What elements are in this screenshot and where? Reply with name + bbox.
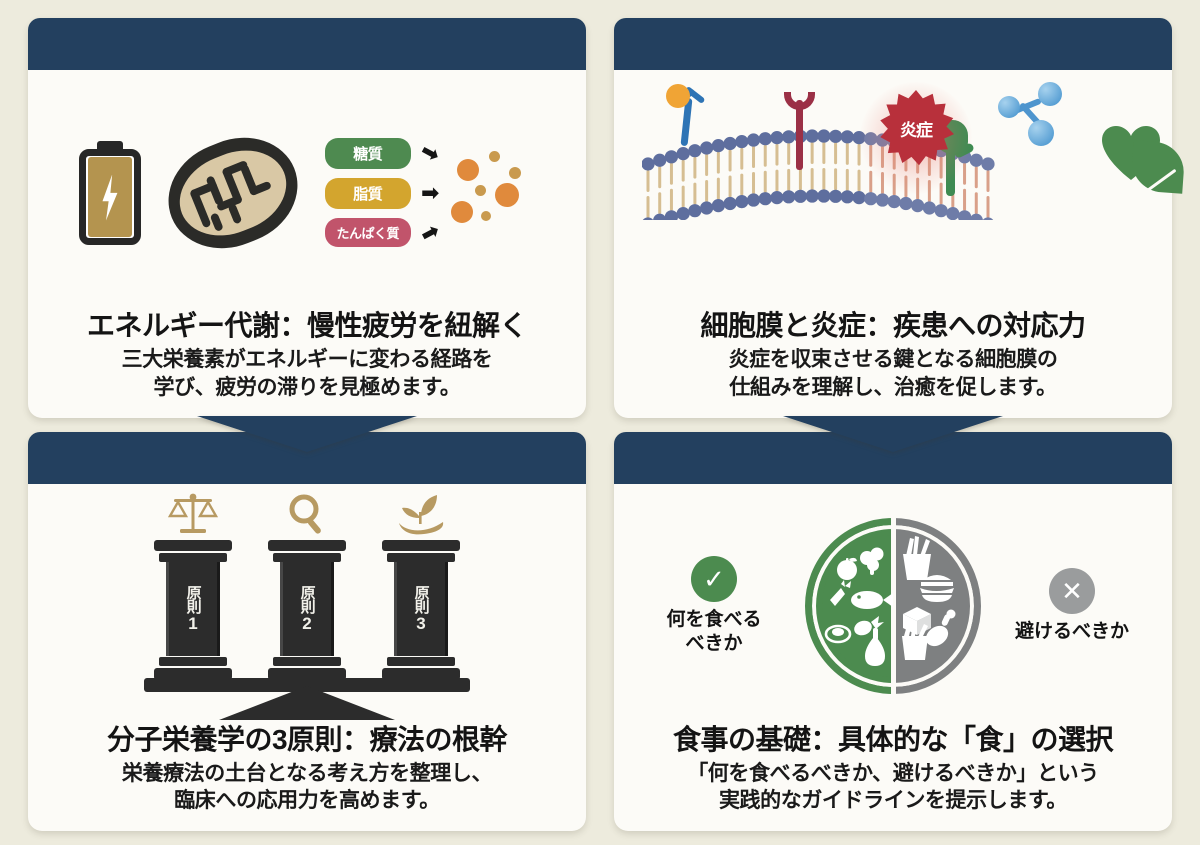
card-title: エネルギー代謝：慢性疲労を紐解く (46, 309, 568, 342)
burger-icon (920, 575, 954, 602)
pillars-balance: 原則 1 (142, 508, 472, 704)
card-subtitle: 炎症を収束させる鍵となる細胞膜の 仕組みを理解し、治癒を促します。 (632, 346, 1154, 401)
subtitle-line: 「何を食べるべきか、避けるべきか」という (632, 760, 1154, 788)
nutrient-pathway-icon: 糖質 脂質 たんぱく質 ➡ ➡ ➡ (325, 138, 536, 247)
oil-bottle-icon (865, 628, 885, 666)
eat-side-label: 何を食べる べきか (666, 608, 761, 656)
label-line: 何を食べる (666, 608, 761, 632)
pillar-number: 1 (188, 615, 197, 632)
energy-particles-icon (449, 145, 535, 241)
meat-icon (852, 616, 884, 638)
subtitle-line: 学び、疲労の滞りを見極めます。 (46, 374, 568, 402)
card-texts: 食事の基礎：具体的な「食」の選択 「何を食べるべきか、避けるべきか」という 実践… (632, 723, 1154, 821)
label-line: べきか (666, 632, 761, 656)
card-header-bar (614, 18, 1172, 70)
card-body: ✓ 何を食べる べきか (614, 484, 1172, 832)
avoid-side-label: 避けるべきか (1015, 620, 1129, 644)
energy-metabolism-art: 糖質 脂質 たんぱく質 ➡ ➡ ➡ (46, 76, 568, 309)
arrow-icon: ➡ (417, 218, 444, 246)
card-diet-basics[interactable]: ✓ 何を食べる べきか (614, 432, 1172, 832)
nutrient-badges: 糖質 脂質 たんぱく質 (325, 138, 412, 247)
pillar-kanji: 原則 (299, 585, 314, 613)
apple-icon (837, 558, 857, 580)
card-body: 糖質 脂質 たんぱく質 ➡ ➡ ➡ (28, 70, 586, 418)
card-texts: エネルギー代謝：慢性疲労を紐解く 三大栄養素がエネルギーに変わる経路を 学び、疲… (46, 309, 568, 407)
subtitle-line: 仕組みを理解し、治癒を促します。 (632, 374, 1154, 402)
arrow-icon: ➡ (417, 138, 444, 166)
card-body: 原則 1 (28, 484, 586, 832)
balance-fulcrum (219, 686, 395, 720)
scales-icon (168, 492, 218, 536)
fish-icon (851, 591, 893, 609)
connector-arrow-down-icon (197, 416, 417, 452)
subtitle-line: 炎症を収束させる鍵となる細胞膜の (632, 346, 1154, 374)
battery-icon (79, 141, 141, 245)
card-title: 食事の基礎：具体的な「食」の選択 (632, 723, 1154, 756)
subtitle-line: 実践的なガイドラインを提示します。 (632, 787, 1154, 815)
pillar-1: 原則 1 (154, 540, 232, 680)
pillar-3: 原則 3 (382, 540, 460, 680)
membrane-art: 炎症 (632, 76, 1154, 309)
card-texts: 分子栄養学の3原則：療法の根幹 栄養療法の土台となる考え方を整理し、 臨床への応… (46, 723, 568, 821)
card-energy-metabolism[interactable]: 糖質 脂質 たんぱく質 ➡ ➡ ➡ (28, 18, 586, 418)
pillar-number: 2 (302, 615, 311, 632)
badge-carbohydrate: 糖質 (325, 138, 412, 169)
subtitle-line: 臨床への応用力を高めます。 (46, 787, 568, 815)
connector-arrow-down-icon (783, 416, 1003, 452)
plate-food-icons (805, 518, 981, 694)
split-plate-icon (805, 518, 981, 694)
card-three-principles[interactable]: 原則 1 (28, 432, 586, 832)
cross-icon: ✕ (1049, 568, 1095, 614)
card-subtitle: 三大栄養素がエネルギーに変わる経路を 学び、疲労の滞りを見極めます。 (46, 346, 568, 401)
card-body: 炎症 (614, 70, 1172, 418)
pillars-art: 原則 1 (46, 490, 568, 723)
badge-protein: たんぱく質 (325, 218, 412, 247)
card-cell-membrane-inflammation[interactable]: 炎症 (614, 18, 1172, 418)
pillar-2: 原則 2 (268, 540, 346, 680)
blue-receptor-icon (666, 84, 710, 146)
card-header-bar (28, 18, 586, 70)
eat-side: ✓ 何を食べる べきか (639, 556, 789, 656)
broccoli-icon (860, 548, 884, 576)
infographic-root: 糖質 脂質 たんぱく質 ➡ ➡ ➡ (0, 0, 1200, 845)
diet-art: ✓ 何を食べる べきか (632, 490, 1154, 723)
card-subtitle: 「何を食べるべきか、避けるべきか」という 実践的なガイドラインを提示します。 (632, 760, 1154, 815)
red-y-receptor-icon (780, 78, 820, 170)
mitochondria-icon (167, 141, 299, 245)
membrane-diagram: 炎症 (632, 76, 1154, 309)
subtitle-line: 三大栄養素がエネルギーに変わる経路を (46, 346, 568, 374)
magnifier-icon (282, 492, 332, 536)
pillar-kanji: 原則 (413, 585, 428, 613)
egg-icon (826, 626, 850, 642)
fries-icon (903, 536, 931, 580)
heart-leaf-icon (1102, 120, 1188, 198)
split-plate-diagram: ✓ 何を食べる べきか (632, 518, 1154, 694)
hand-plant-icon (396, 492, 446, 536)
card-title: 分子栄養学の3原則：療法の根幹 (46, 723, 568, 756)
card-texts: 細胞膜と炎症：疾患への対応力 炎症を収束させる鍵となる細胞膜の 仕組みを理解し、… (632, 309, 1154, 407)
card-subtitle: 栄養療法の土台となる考え方を整理し、 臨床への応用力を高めます。 (46, 760, 568, 815)
label-line: 避けるべきか (1015, 620, 1129, 644)
badge-lipid: 脂質 (325, 178, 412, 209)
arrow-icon: ➡ (421, 182, 439, 204)
pillar-number: 3 (416, 615, 425, 632)
card-grid: 糖質 脂質 たんぱく質 ➡ ➡ ➡ (0, 0, 1200, 845)
pathway-arrows: ➡ ➡ ➡ (417, 142, 443, 244)
subtitle-line: 栄養療法の土台となる考え方を整理し、 (46, 760, 568, 788)
carrot-icon (830, 580, 851, 606)
check-icon: ✓ (691, 556, 737, 602)
molecule-icon (994, 82, 1070, 158)
card-title: 細胞膜と炎症：疾患への対応力 (632, 309, 1154, 342)
avoid-side: ✕ 避けるべきか (997, 568, 1147, 644)
pillar-kanji: 原則 (185, 585, 200, 613)
